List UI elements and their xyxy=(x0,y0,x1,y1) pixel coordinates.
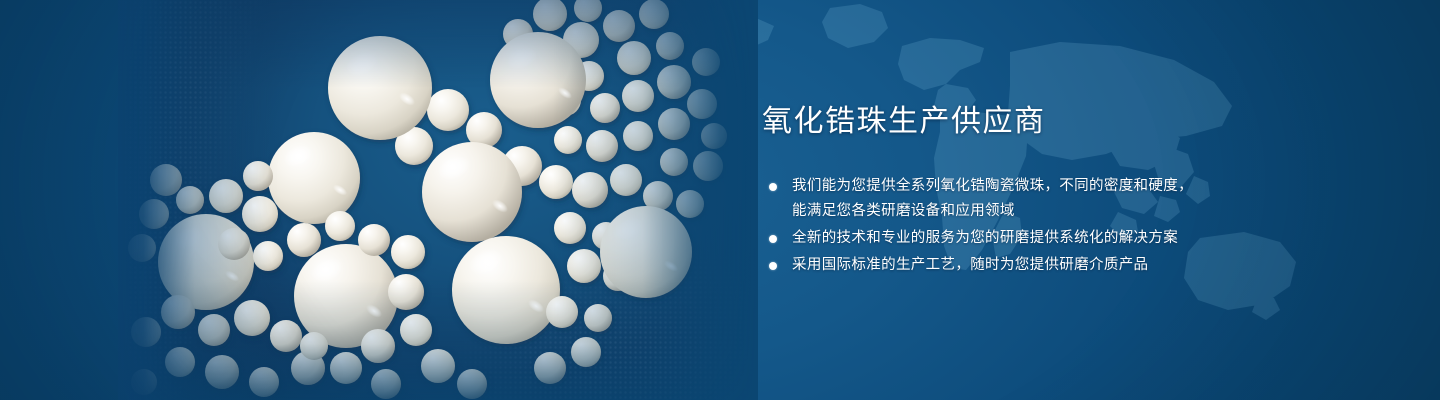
list-item: 全新的技术和专业的服务为您的研磨提供系统化的解决方案 xyxy=(762,226,1232,251)
hero-banner: 氧化锆珠生产供应商 我们能为您提供全系列氧化锆陶瓷微珠，不同的密度和硬度， 能满… xyxy=(0,0,1440,400)
bullet-dot-icon xyxy=(769,262,777,270)
bullet-dot-icon xyxy=(769,183,777,191)
page-title: 氧化锆珠生产供应商 xyxy=(762,104,1232,140)
bullet-text-line-1: 采用国际标准的生产工艺，随时为您提供研磨介质产品 xyxy=(792,257,1148,273)
bullet-text-line-1: 我们能为您提供全系列氧化锆陶瓷微珠，不同的密度和硬度， xyxy=(792,178,1193,194)
list-item: 我们能为您提供全系列氧化锆陶瓷微珠，不同的密度和硬度， 能满足您各类研磨设备和应… xyxy=(762,174,1232,224)
feature-list: 我们能为您提供全系列氧化锆陶瓷微珠，不同的密度和硬度， 能满足您各类研磨设备和应… xyxy=(762,174,1232,278)
bead-cluster xyxy=(118,0,758,400)
bullet-dot-icon xyxy=(769,235,777,243)
bullet-text-line-1: 全新的技术和专业的服务为您的研磨提供系统化的解决方案 xyxy=(792,230,1178,246)
bullet-text-line-2: 能满足您各类研磨设备和应用领域 xyxy=(792,199,1232,224)
zirconia-beads-photo xyxy=(118,0,758,400)
list-item: 采用国际标准的生产工艺，随时为您提供研磨介质产品 xyxy=(762,253,1232,278)
banner-copy: 氧化锆珠生产供应商 我们能为您提供全系列氧化锆陶瓷微珠，不同的密度和硬度， 能满… xyxy=(762,104,1232,280)
